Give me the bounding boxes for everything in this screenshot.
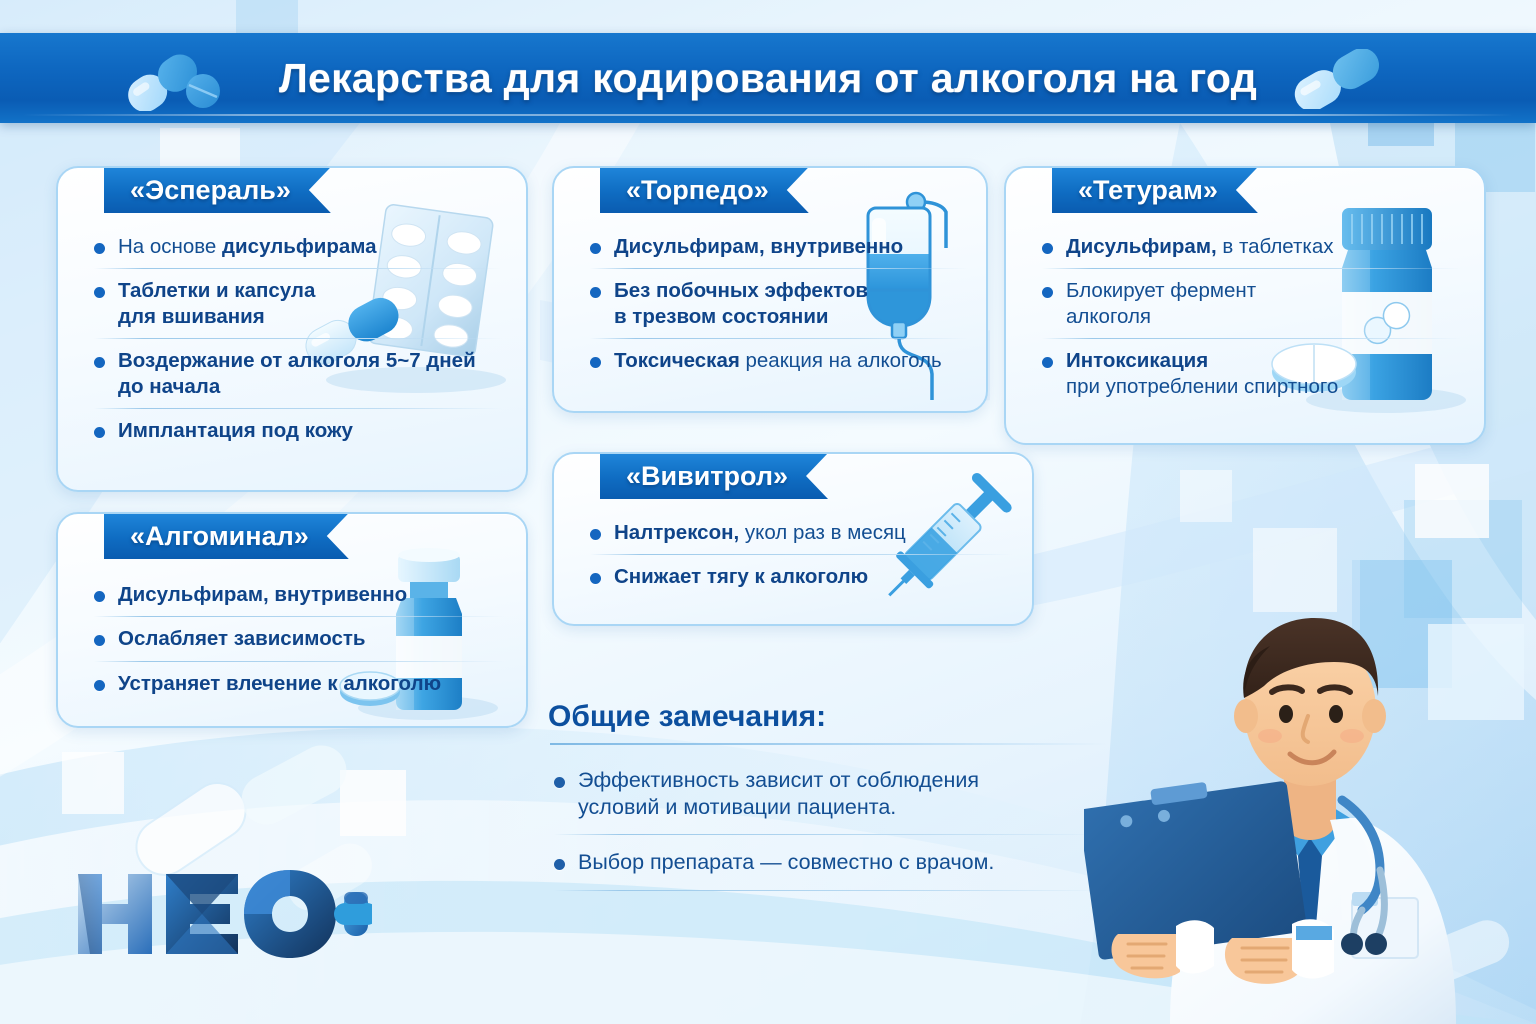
card-title-ribbon-teturam: «Тетурам»: [1052, 167, 1258, 213]
bullet-dot-icon: [94, 680, 105, 691]
list-item: Таблетки и капсуладля вшивания: [88, 278, 506, 329]
list-item: Дисульфирам, внутривенно: [88, 582, 508, 607]
divider: [1042, 338, 1462, 339]
card-teturam[interactable]: «Тетурам» Дисульфирам, в таблетках Блоки…: [1004, 166, 1486, 445]
bullet-dot-icon: [1042, 243, 1053, 254]
notes-title: Общие замечания:: [548, 700, 1108, 734]
medical-cross-icon: [1415, 464, 1489, 538]
bullet-text: Токсическая реакция на алкоголь: [614, 348, 972, 373]
medical-cross-icon: [340, 770, 406, 836]
doctor-with-clipboard-illustration: [1084, 520, 1536, 1024]
card-vivitrol[interactable]: «Вивитрол» Налтрексон, укол раз в месяц …: [552, 452, 1034, 626]
list-item: Снижает тягу к алкоголю: [584, 564, 1016, 589]
bullet-text: Дисульфирам, внутривенно: [614, 234, 972, 259]
bullet-dot-icon: [554, 777, 565, 788]
note-text: Выбор препарата — совместно с врачом.: [578, 849, 1108, 876]
logo-mark: [72, 866, 372, 962]
list-item: Выбор препарата — совместно с врачом.: [548, 849, 1108, 876]
list-item: Ослабляет зависимость: [88, 626, 508, 651]
card-title-torpedo: «Торпедо»: [626, 175, 769, 206]
bullet-text: Таблетки и капсуладля вшивания: [118, 278, 506, 329]
divider: [94, 661, 504, 662]
list-item: Воздержание от алкоголя 5~7 днейдо начал…: [88, 348, 506, 399]
list-item: Токсическая реакция на алкоголь: [584, 348, 972, 373]
bullet-dot-icon: [590, 357, 601, 368]
page-title: Лекарства для кодирования от алкоголя на…: [279, 55, 1257, 102]
list-item: Интоксикацияпри употреблении спиртного: [1036, 348, 1466, 399]
capsule-icon: [1285, 49, 1395, 109]
bullet-text: Снижает тягу к алкоголю: [614, 564, 1016, 589]
medical-cross-icon: [1180, 470, 1232, 522]
bullet-dot-icon: [590, 287, 601, 298]
card-esperal[interactable]: «Эспераль» На основе дисульфирама Таблет…: [56, 166, 528, 492]
list-item: Дисульфирам, внутривенно: [584, 234, 972, 259]
list-item: Эффективность зависит от соблюденияуслов…: [548, 767, 1108, 820]
general-notes-section: Общие замечания: Эффективность зависит о…: [548, 700, 1108, 891]
card-title-ribbon-algominal: «Алгоминал»: [104, 513, 349, 559]
capsule-icon: [233, 737, 355, 834]
card-title-ribbon-vivitrol: «Вивитрол»: [600, 453, 828, 499]
bullet-list-esperal: На основе дисульфирама Таблетки и капсул…: [88, 234, 506, 443]
bullet-dot-icon: [554, 859, 565, 870]
card-title-ribbon-esperal: «Эспераль»: [104, 167, 331, 213]
bullet-text: Интоксикацияпри употреблении спиртного: [1066, 348, 1466, 399]
note-text: Эффективность зависит от соблюденияуслов…: [578, 767, 1108, 820]
list-item: Имплантация под кожу: [88, 418, 506, 443]
bullet-text: Устраняет влечение к алкоголю: [118, 671, 508, 696]
bullet-list-vivitrol: Налтрексон, укол раз в месяц Снижает тяг…: [584, 520, 1016, 590]
list-item: На основе дисульфирама: [88, 234, 506, 259]
card-title-vivitrol: «Вивитрол»: [626, 461, 788, 492]
bullet-text: Налтрексон, укол раз в месяц: [614, 520, 1016, 545]
bullet-text: Воздержание от алкоголя 5~7 днейдо начал…: [118, 348, 506, 399]
divider: [554, 834, 1104, 835]
card-torpedo[interactable]: «Торпедо» Дисульфирам, внутривенно Без п…: [552, 166, 988, 413]
bullet-text: Дисульфирам, внутривенно: [118, 582, 508, 607]
bullet-dot-icon: [94, 635, 105, 646]
bullet-text: Блокирует ферменталкоголя: [1066, 278, 1466, 329]
list-item: Налтрексон, укол раз в месяц: [584, 520, 1016, 545]
bullet-dot-icon: [94, 287, 105, 298]
bullet-dot-icon: [590, 529, 601, 540]
bullet-text: Без побочных эффектовв трезвом состоянии: [614, 278, 972, 329]
list-item: Устраняет влечение к алкоголю: [88, 671, 508, 696]
bullet-list-algominal: Дисульфирам, внутривенно Ослабляет завис…: [88, 582, 508, 696]
bullet-list-teturam: Дисульфирам, в таблетках Блокирует ферме…: [1036, 234, 1466, 399]
card-title-ribbon-torpedo: «Торпедо»: [600, 167, 809, 213]
divider: [590, 338, 968, 339]
medical-cross-icon: [1428, 624, 1524, 720]
background-square: [1404, 500, 1522, 618]
divider: [554, 890, 1104, 891]
bullet-dot-icon: [94, 357, 105, 368]
background-square: [1352, 560, 1452, 688]
list-item: Дисульфирам, в таблетках: [1036, 234, 1466, 259]
capsule-icon: [1410, 914, 1515, 991]
divider: [94, 408, 502, 409]
bullet-text: Ослабляет зависимость: [118, 626, 508, 651]
card-title-algominal: «Алгоминал»: [130, 521, 309, 552]
divider: [590, 268, 968, 269]
list-item: Без побочных эффектовв трезвом состоянии: [584, 278, 972, 329]
card-title-esperal: «Эспераль»: [130, 175, 291, 206]
infographic-canvas: Лекарства для кодирования от алкоголя на…: [0, 0, 1536, 1024]
medical-cross-icon: [62, 752, 124, 814]
bullet-dot-icon: [94, 591, 105, 602]
medical-cross-icon: [1253, 528, 1337, 612]
divider: [94, 338, 502, 339]
divider: [94, 616, 504, 617]
background-square: [1210, 560, 1360, 630]
card-title-teturam: «Тетурам»: [1078, 175, 1218, 206]
bullet-dot-icon: [94, 427, 105, 438]
bullet-text: На основе дисульфирама: [118, 234, 506, 259]
bullet-text: Дисульфирам, в таблетках: [1066, 234, 1466, 259]
bullet-text: Имплантация под кожу: [118, 418, 506, 443]
divider: [1042, 268, 1462, 269]
bullet-dot-icon: [94, 243, 105, 254]
capsule-icon: [115, 47, 225, 111]
bullet-dot-icon: [1042, 287, 1053, 298]
bullet-dot-icon: [590, 243, 601, 254]
list-item: Блокирует ферменталкоголя: [1036, 278, 1466, 329]
bullet-dot-icon: [1042, 357, 1053, 368]
neo-plus-logo: [72, 866, 372, 962]
bullet-dot-icon: [590, 573, 601, 584]
divider: [550, 743, 1106, 745]
card-algominal[interactable]: «Алгоминал» Дисульфирам, внутривенно Осл…: [56, 512, 528, 728]
divider: [94, 268, 502, 269]
header-banner: Лекарства для кодирования от алкоголя на…: [0, 33, 1536, 123]
bullet-list-torpedo: Дисульфирам, внутривенно Без побочных эф…: [584, 234, 972, 374]
divider: [590, 554, 1012, 555]
